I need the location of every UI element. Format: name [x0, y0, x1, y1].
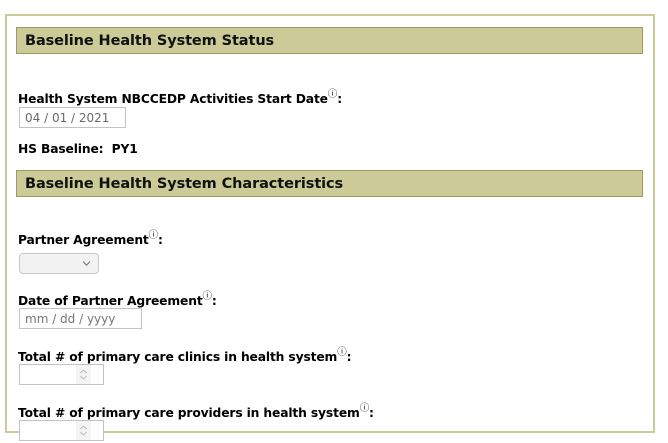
total-primary-care-clinics-input[interactable] — [20, 365, 76, 384]
label-text-partner-agreement: Partner Agreement — [18, 233, 149, 247]
section-header-baseline-health-system-characteristics: Baseline Health System Characteristics — [16, 170, 643, 197]
section-title-characteristics: Baseline Health System Characteristics — [17, 176, 343, 192]
label-total-primary-care-providers: Total # of primary care providers in hea… — [18, 401, 374, 420]
label-colon-total-primary-care-clinics: : — [347, 350, 352, 364]
spinner-up-icon[interactable] — [79, 369, 88, 374]
help-icon-partner-agreement[interactable]: ⓘ — [149, 230, 158, 241]
spinner-down-icon[interactable] — [79, 431, 88, 436]
partner-agreement-select[interactable] — [19, 253, 99, 274]
total-primary-care-clinics-stepper[interactable] — [19, 364, 104, 385]
spinner-providers[interactable] — [76, 421, 91, 440]
total-primary-care-providers-input[interactable] — [20, 421, 76, 440]
help-icon-total-primary-care-clinics[interactable]: ⓘ — [337, 347, 346, 358]
label-health-system-nbccedp-activities-start-date: Health System NBCCEDP Activities Start D… — [18, 87, 342, 106]
hs-baseline-row: HS Baseline: PY1 — [18, 142, 138, 156]
label-colon-partner-agreement: : — [158, 233, 163, 247]
hs-baseline-label: HS Baseline: — [18, 142, 103, 156]
label-partner-agreement: Partner Agreementⓘ: — [18, 228, 163, 247]
spinner-up-icon[interactable] — [79, 425, 88, 430]
spinner-down-icon[interactable] — [79, 375, 88, 380]
label-text-total-primary-care-clinics: Total # of primary care clinics in healt… — [18, 350, 337, 364]
label-colon-date-of-partner-agreement: : — [212, 294, 217, 308]
form-container: Baseline Health System Status Health Sys… — [5, 14, 655, 433]
label-colon-start-date: : — [337, 92, 342, 106]
label-date-of-partner-agreement: Date of Partner Agreementⓘ: — [18, 289, 217, 308]
hs-baseline-value: PY1 — [112, 142, 138, 156]
label-colon-total-primary-care-providers: : — [369, 406, 374, 420]
total-primary-care-providers-stepper[interactable] — [19, 420, 104, 441]
help-icon-total-primary-care-providers[interactable]: ⓘ — [360, 403, 369, 414]
label-text-start-date: Health System NBCCEDP Activities Start D… — [18, 92, 328, 106]
help-icon-start-date[interactable]: ⓘ — [328, 89, 337, 100]
date-of-partner-agreement-input[interactable] — [19, 308, 142, 329]
section-header-baseline-health-system-status: Baseline Health System Status — [16, 27, 643, 54]
label-text-total-primary-care-providers: Total # of primary care providers in hea… — [18, 406, 360, 420]
label-text-date-of-partner-agreement: Date of Partner Agreement — [18, 294, 203, 308]
chevron-down-icon[interactable] — [82, 259, 91, 268]
spinner-clinics[interactable] — [76, 365, 91, 384]
start-date-input[interactable] — [19, 107, 126, 128]
label-total-primary-care-clinics: Total # of primary care clinics in healt… — [18, 345, 351, 364]
help-icon-date-of-partner-agreement[interactable]: ⓘ — [203, 291, 212, 302]
section-title-status: Baseline Health System Status — [17, 33, 274, 49]
